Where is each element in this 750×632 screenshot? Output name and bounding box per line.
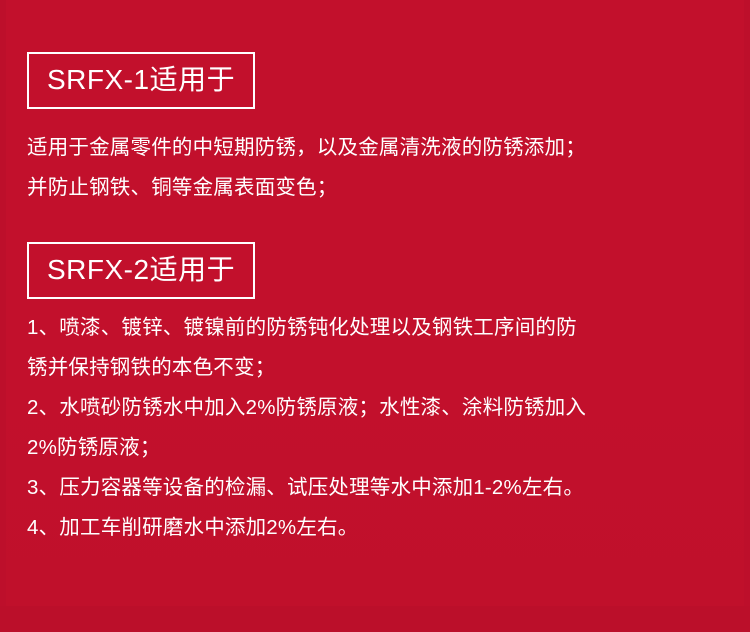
section-2-line-5: 3、压力容器等设备的检漏、试压处理等水中添加1-2%左右。 <box>27 468 727 508</box>
section-1-line-1: 适用于金属零件的中短期防锈，以及金属清洗液的防锈添加； <box>27 128 717 168</box>
section-2-line-3: 2、水喷砂防锈水中加入2%防锈原液；水性漆、涂料防锈加入 <box>27 388 727 428</box>
section-1-body: 适用于金属零件的中短期防锈，以及金属清洗液的防锈添加； 并防止钢铁、铜等金属表面… <box>27 128 717 208</box>
left-edge-strip <box>0 0 6 632</box>
section-2-heading: SRFX-2适用于 <box>27 242 255 299</box>
bottom-strip <box>0 606 750 632</box>
section-1-heading: SRFX-1适用于 <box>27 52 255 109</box>
section-1-heading-wrap: SRFX-1适用于 <box>27 52 255 109</box>
section-2-body: 1、喷漆、镀锌、镀镍前的防锈钝化处理以及钢铁工序间的防 锈并保持钢铁的本色不变；… <box>27 308 727 548</box>
section-2-line-2: 锈并保持钢铁的本色不变； <box>27 348 727 388</box>
section-2-line-4: 2%防锈原液； <box>27 428 727 468</box>
product-info-banner: SRFX-1适用于 适用于金属零件的中短期防锈，以及金属清洗液的防锈添加； 并防… <box>0 0 750 632</box>
section-1-line-2: 并防止钢铁、铜等金属表面变色； <box>27 168 717 208</box>
right-edge-strip <box>744 0 750 632</box>
section-2-heading-wrap: SRFX-2适用于 <box>27 242 255 299</box>
section-2-line-1: 1、喷漆、镀锌、镀镍前的防锈钝化处理以及钢铁工序间的防 <box>27 308 727 348</box>
section-2-line-6: 4、加工车削研磨水中添加2%左右。 <box>27 508 727 548</box>
